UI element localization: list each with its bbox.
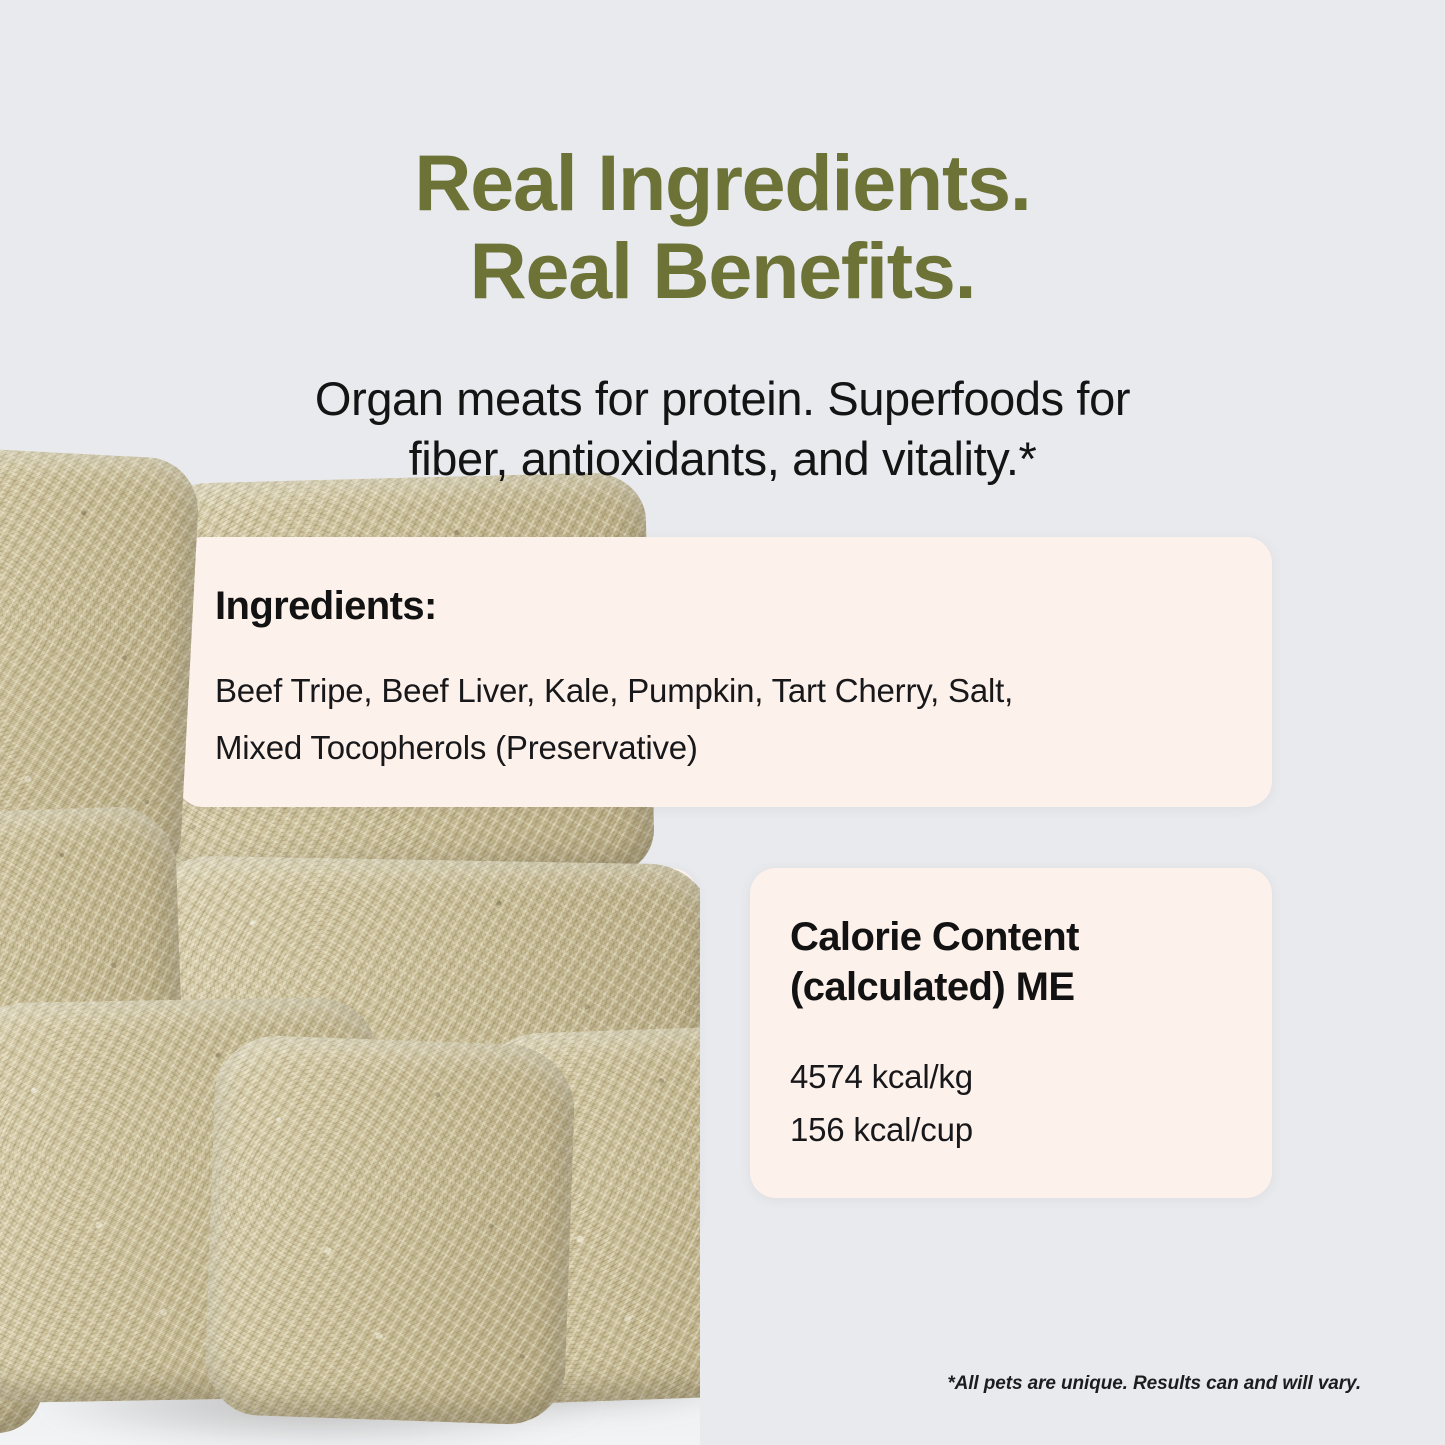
analysis-row: Crude Fat (min) 26%: [215, 1054, 574, 1115]
ingredients-line-2: Mixed Tocopherols (Preservative): [215, 719, 1225, 776]
calorie-row: 4574 kcal/kg: [790, 1050, 973, 1103]
ingredients-list: Beef Tripe, Beef Liver, Kale, Pumpkin, T…: [215, 662, 1225, 776]
footnote-disclaimer: *All pets are unique. Results can and wi…: [947, 1373, 1361, 1395]
calorie-content-card: Calorie Content (calculated) ME 4574 kca…: [750, 868, 1272, 1198]
subheadline: Organ meats for protein. Superfoods for …: [150, 369, 1295, 489]
guaranteed-analysis-card: Guaranteed Analysis Crude Protein (min) …: [177, 868, 697, 1238]
analysis-row: Crude Protein (min) 45%: [215, 993, 574, 1054]
headline-line-2: Real Benefits.: [0, 227, 1445, 315]
subheadline-line-2: fiber, antioxidants, and vitality.*: [150, 429, 1295, 489]
analysis-row: Crude Fiber (max) 2.5%: [215, 1115, 574, 1176]
headline-line-1: Real Ingredients.: [0, 139, 1445, 227]
calorie-row: 156 kcal/cup: [790, 1103, 973, 1156]
calorie-title-line-1: Calorie Content: [790, 912, 1210, 962]
infographic-content: Real Ingredients. Real Benefits. Organ m…: [0, 0, 1445, 1445]
ingredients-line-1: Beef Tripe, Beef Liver, Kale, Pumpkin, T…: [215, 662, 1225, 719]
calorie-title-line-2: (calculated) ME: [790, 962, 1210, 1012]
ingredients-title: Ingredients:: [215, 584, 437, 629]
page-title: Real Ingredients. Real Benefits.: [0, 139, 1445, 314]
calorie-content-list: 4574 kcal/kg 156 kcal/cup: [790, 1050, 973, 1157]
guaranteed-analysis-list: Crude Protein (min) 45% Crude Fat (min) …: [215, 993, 574, 1237]
guaranteed-analysis-title: Guaranteed Analysis: [215, 913, 600, 958]
calorie-content-title: Calorie Content (calculated) ME: [790, 912, 1210, 1012]
analysis-row: Moisture (max) 6%: [215, 1176, 574, 1237]
subheadline-line-1: Organ meats for protein. Superfoods for: [150, 369, 1295, 429]
ingredients-card: Ingredients: Beef Tripe, Beef Liver, Kal…: [177, 537, 1272, 807]
